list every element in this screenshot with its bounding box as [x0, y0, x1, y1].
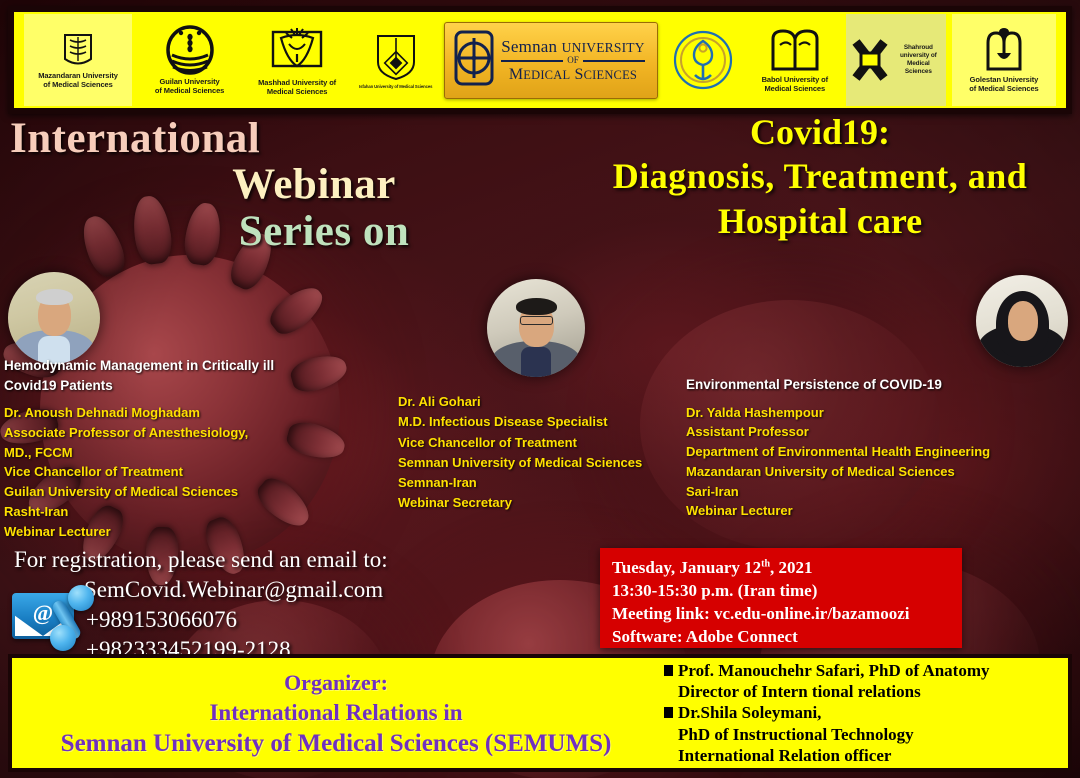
logo-caption: Guilan University: [155, 77, 224, 86]
event-details-box: Tuesday, January 12th, 2021 13:30-15:30 …: [600, 548, 962, 648]
officer-name: Dr.Shila Soleymani,: [678, 702, 821, 723]
speaker-detail-line: Dr. Anoush Dehnadi Moghadam: [4, 403, 364, 423]
bullet-square-icon: [664, 707, 673, 718]
semnan-crest-icon: [454, 30, 494, 91]
logo-caption: Mazandaran University: [38, 71, 118, 80]
officers-block: Prof. Manouchehr Safari, PhD of Anatomy …: [660, 658, 1068, 768]
headline-line-series-on: Series on: [4, 209, 564, 255]
speaker-topic-line: Covid19 Patients: [4, 376, 364, 396]
speaker-detail-line: Rasht-Iran: [4, 502, 364, 522]
semnan-title-part: UNIVERSITY: [562, 40, 645, 55]
partner-logo-bar: Mazandaran University of Medical Science…: [8, 6, 1072, 114]
event-meeting-link[interactable]: Meeting link: vc.edu-online.ir/bazamoozi: [612, 602, 952, 625]
logo-caption: Babol University of: [762, 75, 828, 84]
officer-name: Prof. Manouchehr Safari, PhD of Anatomy: [678, 660, 990, 681]
speaker-detail-line: M.D. Infectious Disease Specialist: [398, 412, 698, 432]
speaker-detail-line: MD., FCCM: [4, 443, 364, 463]
officer-role: PhD of Instructional Technology: [664, 724, 1062, 745]
speaker-detail-line: Webinar Lecturer: [686, 501, 1066, 521]
logo-mashhad: Mashhad University of Medical Sciences: [247, 14, 347, 106]
speaker-detail-line: Semnan-Iran: [398, 473, 698, 493]
logo-caption: Medical Sciences: [894, 60, 942, 76]
speaker-detail-line: Vice Chancellor of Treatment: [4, 462, 364, 482]
speaker-detail-line: Semnan University of Medical Sciences: [398, 453, 698, 473]
logo-caption: Golestan University: [969, 75, 1038, 84]
speaker-block-gohari: Dr. Ali Gohari M.D. Infectious Disease S…: [398, 392, 698, 514]
logo-caption: of Medical Sciences: [969, 84, 1038, 93]
logo-isfahan: Isfahan University of Medical Sciences: [353, 14, 439, 106]
speaker-detail-line: Mazandaran University of Medical Science…: [686, 462, 1066, 482]
organizer-line-2: International Relations in: [209, 700, 462, 726]
semnan-title-part: M: [509, 66, 523, 83]
speaker-topic-line: Hemodynamic Management in Critically ill: [4, 356, 364, 376]
speaker-block-dehnadi: Hemodynamic Management in Critically ill…: [4, 356, 364, 541]
speaker-block-hashempour: Environmental Persistence of COVID-19 Dr…: [686, 375, 1066, 521]
logo-shahroud: Shahroud university of Medical Sciences: [846, 14, 946, 106]
headline-left: International Webinar Series on: [4, 116, 564, 255]
headline-line-covid19: Covid19:: [560, 112, 1080, 152]
event-software: Software: Adobe Connect: [612, 625, 952, 648]
speaker-photo-hashempour: [976, 275, 1068, 367]
speaker-detail-line: Dr. Ali Gohari: [398, 392, 698, 412]
headline-line-webinar: Webinar: [4, 162, 564, 208]
semnan-of: OF: [567, 56, 579, 65]
speaker-detail-line: Associate Professor of Anesthesiology,: [4, 423, 364, 443]
speaker-photo-gohari: [487, 279, 585, 377]
registration-prompt: For registration, please send an email t…: [14, 545, 574, 575]
circular-caduceus-icon: [672, 29, 734, 91]
book-chalice-icon: [269, 24, 325, 76]
telephone-icon: [48, 583, 96, 653]
speaker-topic-line: Environmental Persistence of COVID-19: [686, 375, 1066, 395]
organizer-block: Organizer: International Relations in Se…: [12, 658, 660, 768]
semnan-title-part: CIENCES: [584, 68, 638, 82]
knot-icon: [850, 36, 890, 84]
logo-shahid-beheshti: [663, 14, 743, 106]
logo-caption: Medical Sciences: [762, 84, 828, 93]
open-book-arch-icon: [769, 27, 821, 73]
speaker-detail-line: Department of Environmental Health Engin…: [686, 442, 1066, 462]
speaker-detail-line: Guilan University of Medical Sciences: [4, 482, 364, 502]
logo-caption: Shahroud university of: [894, 44, 942, 60]
logo-golestan: Golestan University of Medical Sciences: [952, 14, 1056, 106]
logo-semnan: Semnan UNIVERSITY OF MEDICAL SCIENCES: [444, 22, 657, 99]
officer-entry: Dr.Shila Soleymani,: [664, 702, 1062, 723]
organizer-line-3: Semnan University of Medical Sciences (S…: [61, 730, 612, 758]
shield-kufic-icon: [372, 30, 420, 82]
headline-line-international: International: [4, 116, 564, 162]
logo-caption: Isfahan University of Medical Sciences: [359, 84, 432, 89]
logo-babol: Babol University of Medical Sciences: [749, 14, 841, 106]
semnan-divider: OF: [501, 56, 644, 65]
officer-role: Director of Intern tional relations: [664, 681, 1062, 702]
officer-entry: Prof. Manouchehr Safari, PhD of Anatomy: [664, 660, 1062, 681]
bullet-square-icon: [664, 665, 673, 676]
semnan-title-part: Semnan: [501, 37, 557, 56]
speaker-detail-line: Webinar Lecturer: [4, 522, 364, 542]
wheat-oval-icon: [164, 25, 216, 75]
officer-role: International Relation officer: [664, 745, 1062, 766]
logo-caption: of Medical Sciences: [155, 86, 224, 95]
speaker-detail-line: Assistant Professor: [686, 422, 1066, 442]
speaker-detail-line: Webinar Secretary: [398, 493, 698, 513]
speaker-detail-line: Dr. Yalda Hashempour: [686, 403, 1066, 423]
shield-book-icon: [61, 31, 95, 69]
logo-mazandaran: Mazandaran University of Medical Science…: [24, 14, 132, 106]
event-date: Tuesday, January 12th, 2021: [612, 556, 952, 579]
logo-guilan: Guilan University of Medical Sciences: [138, 14, 242, 106]
webinar-poster: Mazandaran University of Medical Science…: [0, 0, 1080, 778]
headline-line-diagnosis: Diagnosis, Treatment, and: [560, 156, 1080, 196]
tulip-arch-icon: [982, 27, 1026, 73]
logo-caption: of Medical Sciences: [38, 80, 118, 89]
headline-right: Covid19: Diagnosis, Treatment, and Hospi…: [560, 112, 1080, 241]
logo-caption: Mashhad University of: [258, 78, 336, 87]
semnan-title-part: S: [574, 66, 583, 83]
speaker-photo-dehnadi: [8, 272, 100, 364]
speaker-detail-line: Vice Chancellor of Treatment: [398, 433, 698, 453]
organizer-label: Organizer:: [284, 670, 388, 696]
logo-caption: Medical Sciences: [258, 87, 336, 96]
footer-bar: Organizer: International Relations in Se…: [8, 654, 1072, 772]
speaker-detail-line: Sari-Iran: [686, 482, 1066, 502]
semnan-title-part: EDICAL: [523, 68, 570, 82]
email-phone-icon: @: [8, 583, 100, 655]
headline-line-hospital-care: Hospital care: [560, 201, 1080, 241]
event-time: 13:30-15:30 p.m. (Iran time): [612, 579, 952, 602]
